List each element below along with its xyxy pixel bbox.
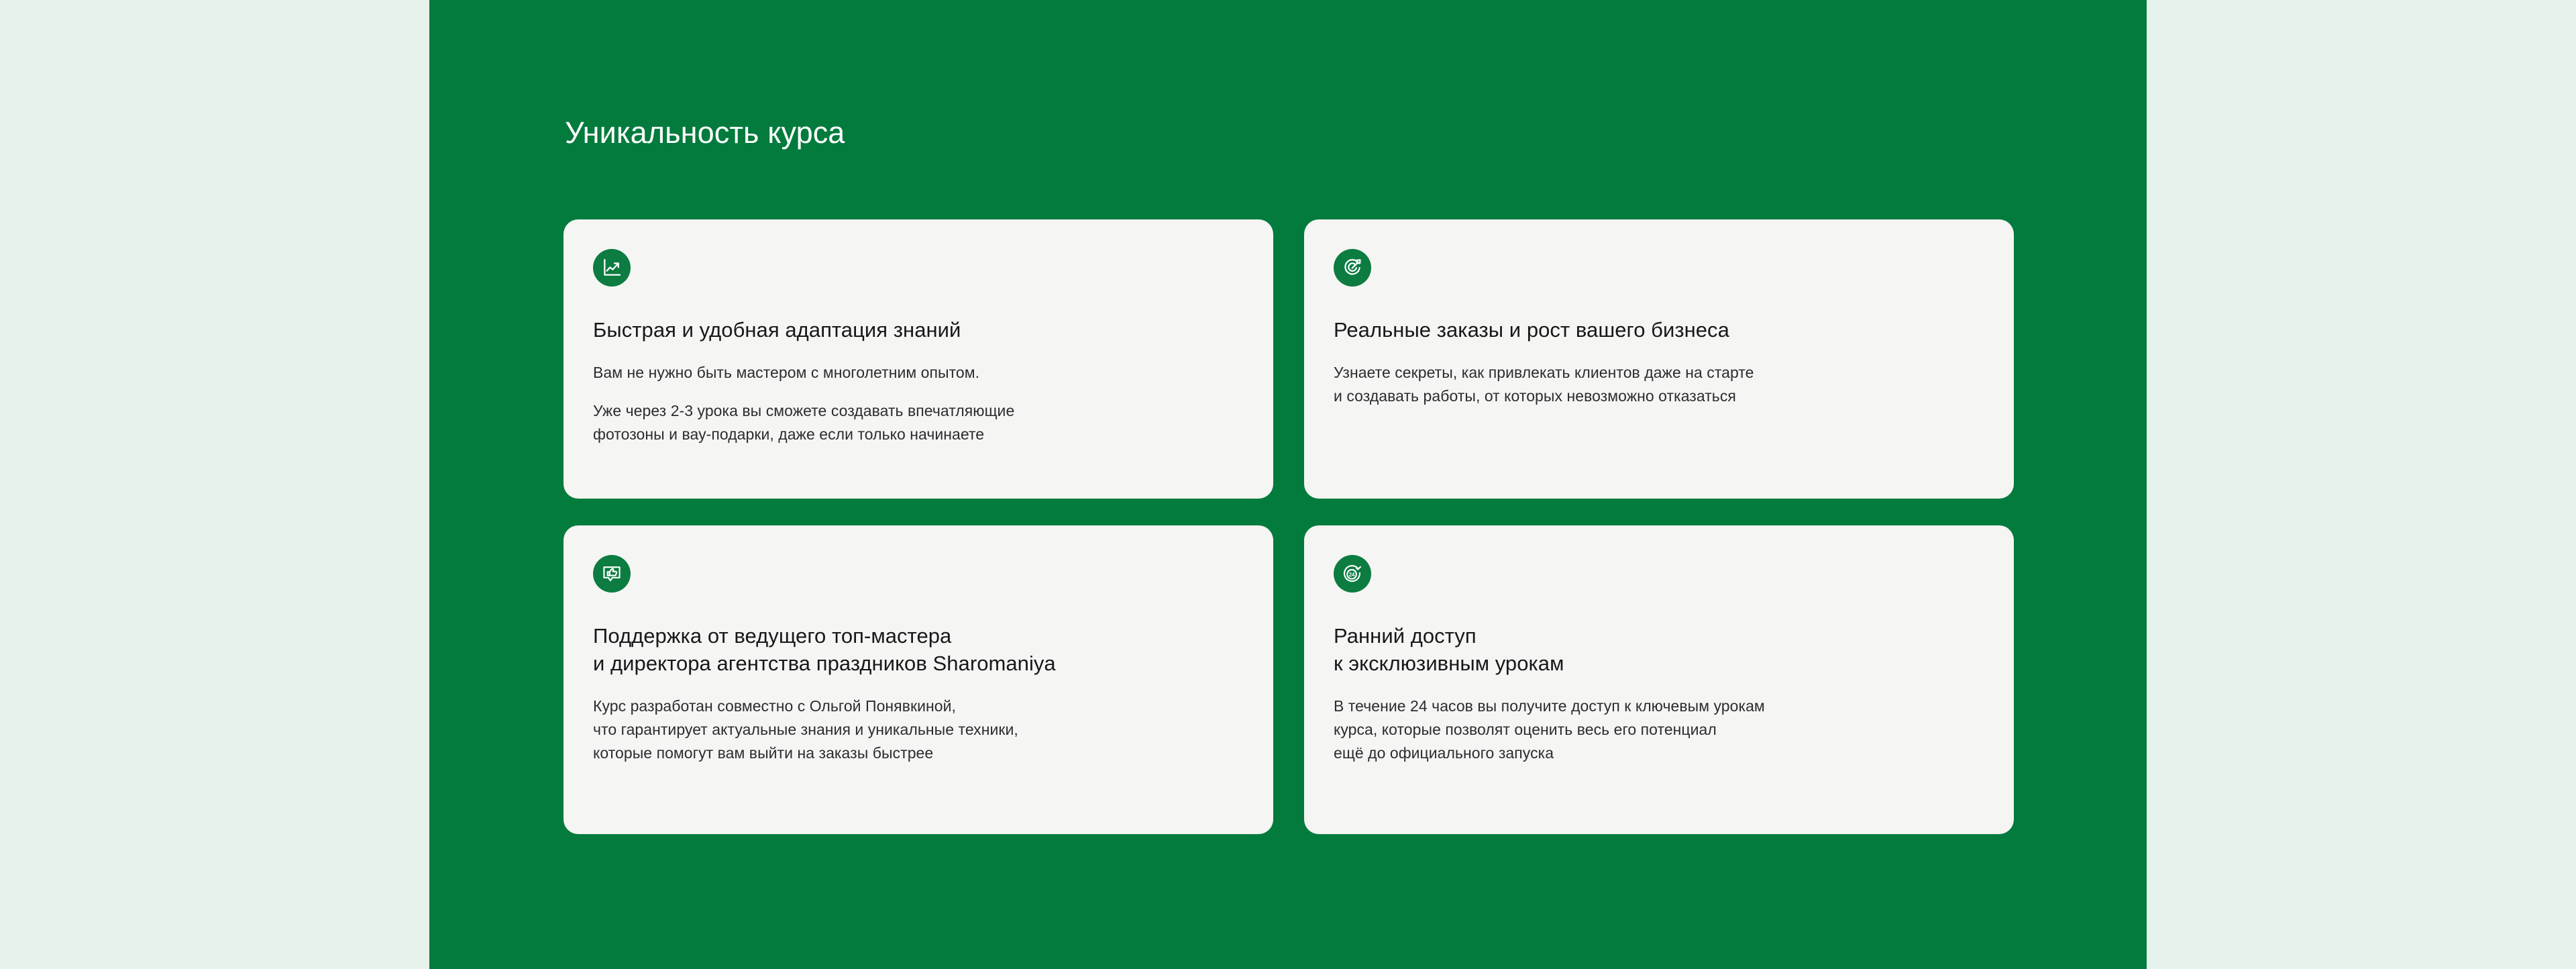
benefit-card-early-access[interactable]: 24 Ранний доступ к эксклюзивным урокам В… (1304, 525, 2014, 834)
page-title: Уникальность курса (565, 115, 845, 150)
24-hours-check-icon: 24 (1334, 555, 1371, 593)
target-dart-icon (1334, 249, 1371, 287)
card-title: Быстрая и удобная адаптация знаний (593, 316, 1244, 344)
svg-text:24: 24 (1349, 572, 1355, 578)
card-body-paragraph: Уже через 2-3 урока вы сможете создавать… (593, 399, 1244, 446)
benefit-card-support[interactable]: Поддержка от ведущего топ-мастера и дире… (563, 525, 1273, 834)
card-body-paragraph: Вам не нужно быть мастером с многолетним… (593, 361, 1244, 385)
chart-growth-icon (593, 249, 631, 287)
card-body-paragraph: В течение 24 часов вы получите доступ к … (1334, 695, 1984, 765)
benefit-card-orders-growth[interactable]: Реальные заказы и рост вашего бизнеса Уз… (1304, 219, 2014, 499)
benefit-card-grid: Быстрая и удобная адаптация знаний Вам н… (563, 219, 2014, 834)
thumbs-up-bubble-icon (593, 555, 631, 593)
card-body-paragraph: Узнаете секреты, как привлекать клиентов… (1334, 361, 1984, 408)
page-root: Уникальность курса Быстрая и удобная ада… (0, 0, 2576, 969)
green-content-panel: Уникальность курса Быстрая и удобная ада… (429, 0, 2147, 969)
card-title: Реальные заказы и рост вашего бизнеса (1334, 316, 1984, 344)
benefit-card-adaptation[interactable]: Быстрая и удобная адаптация знаний Вам н… (563, 219, 1273, 499)
card-title: Ранний доступ к эксклюзивным урокам (1334, 622, 1984, 677)
card-body-paragraph: Курс разработан совместно с Ольгой Поняв… (593, 695, 1244, 765)
card-title: Поддержка от ведущего топ-мастера и дире… (593, 622, 1244, 677)
